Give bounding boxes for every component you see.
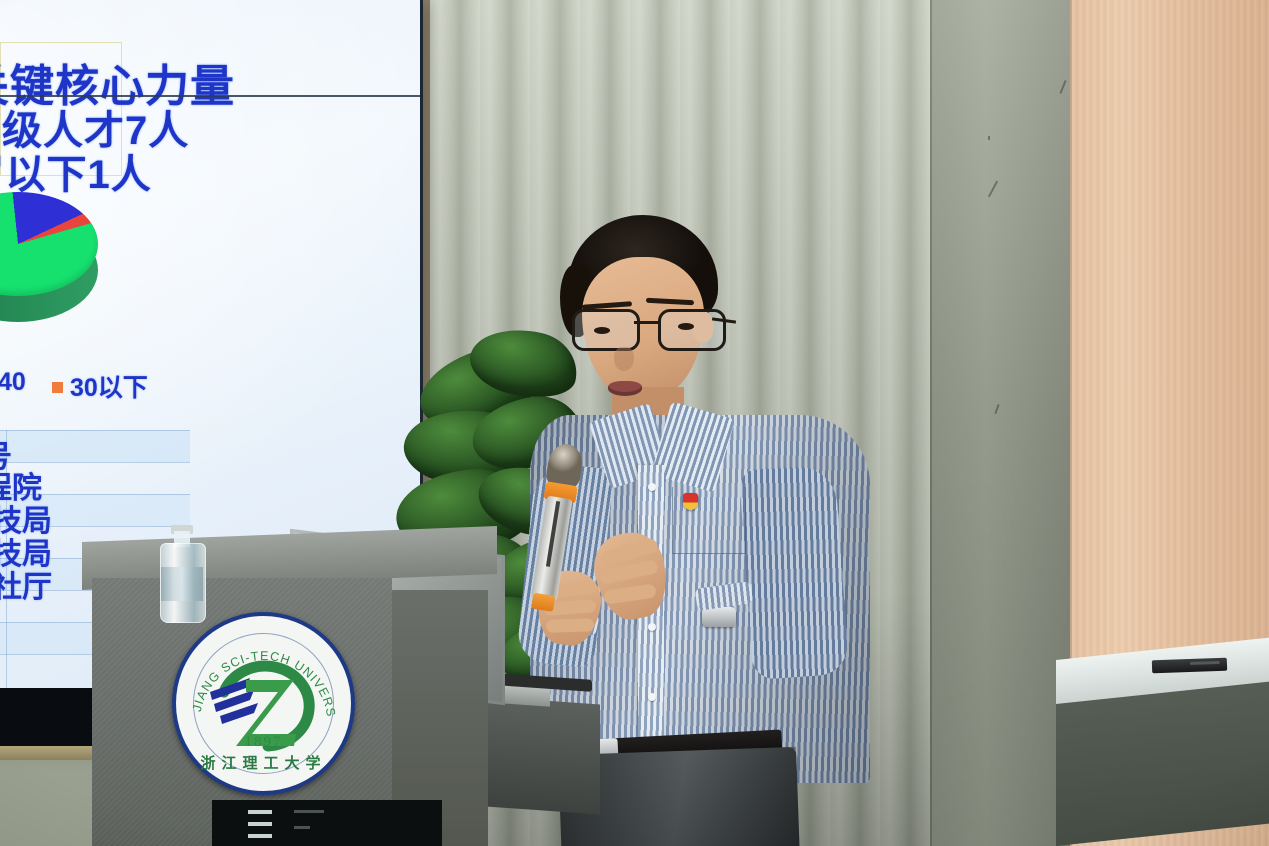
bottle-label xyxy=(161,567,203,601)
microphone-tail xyxy=(531,593,555,612)
wall-scratch-2 xyxy=(988,136,990,140)
pie-legend-label-cut: 40 xyxy=(0,368,26,397)
emblem-year: 1897 xyxy=(176,734,351,751)
pie-chart xyxy=(0,192,98,324)
party-emblem-badge-icon xyxy=(683,493,698,510)
wristwatch xyxy=(702,607,736,627)
table-row-4-title: 浙江省人社厅 xyxy=(0,562,52,606)
glasses-lens-right xyxy=(658,309,726,351)
glasses-bridge xyxy=(634,321,658,324)
table-band-1 xyxy=(0,430,190,462)
eye-right xyxy=(678,323,694,330)
university-emblem: ZHEJIANG SCI-TECH UNIVERSITY 1897 浙江理工大学 xyxy=(172,612,355,795)
screen-bezel-line xyxy=(0,95,420,97)
presentation-photo-scene: 的关键核心力量 省部级人才7人 30岁以下1人 40 30以下 xyxy=(0,0,1269,846)
shirt-button-3 xyxy=(648,623,656,631)
wall-seam-left xyxy=(930,0,932,846)
legend-swatch-icon xyxy=(52,382,63,393)
arm-right xyxy=(739,464,849,680)
mouth xyxy=(608,381,642,396)
remote-control[interactable] xyxy=(1152,658,1227,674)
pie-legend-last: 30以下 xyxy=(52,368,148,404)
eye-left xyxy=(594,327,610,334)
finger-3 xyxy=(546,618,594,633)
flat-wall-panel xyxy=(930,0,1070,846)
remote-buttons xyxy=(1190,661,1220,665)
shirt-button-1 xyxy=(648,483,656,491)
podium-control-panel[interactable] xyxy=(212,800,442,846)
nose xyxy=(614,347,634,371)
shirt-button-4 xyxy=(648,693,656,701)
pie-legend-label-last: 30以下 xyxy=(70,374,148,402)
water-bottle[interactable] xyxy=(160,525,204,621)
emblem-chinese-name: 浙江理工大学 xyxy=(176,752,351,773)
